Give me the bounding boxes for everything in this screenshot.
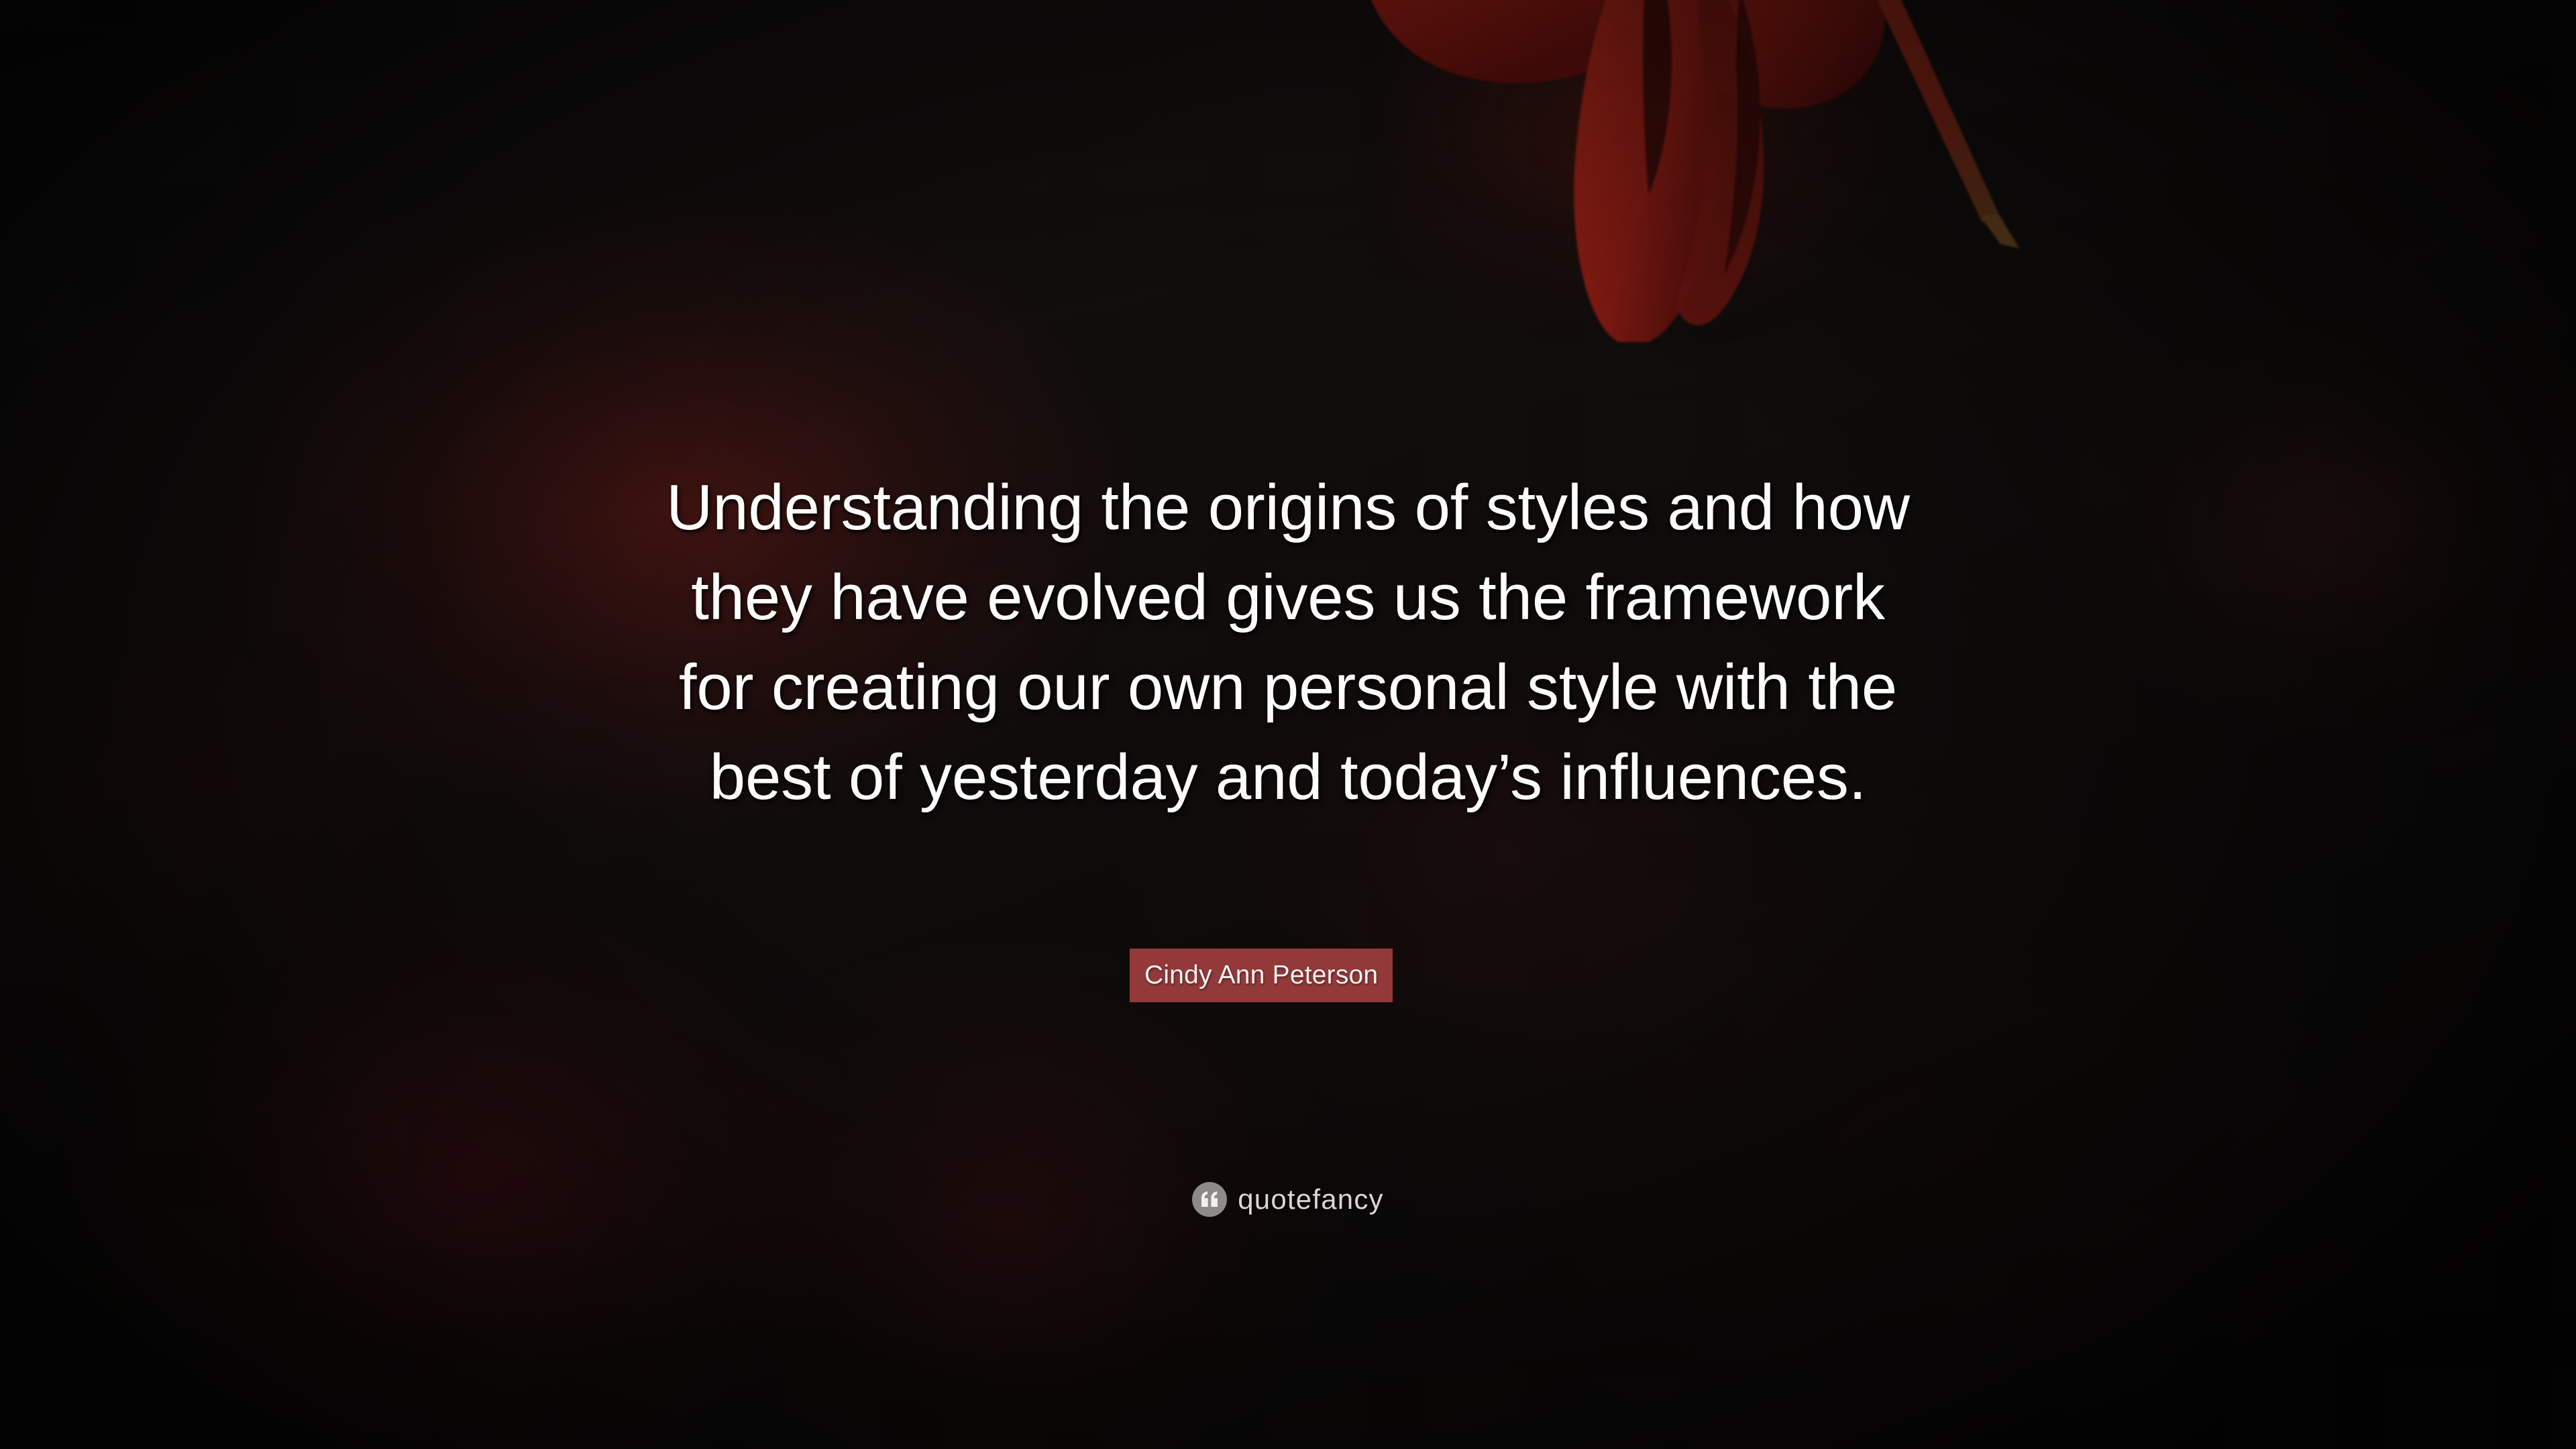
quotefancy-logo[interactable]: quotefancy <box>0 1182 2576 1217</box>
quotation-mark-icon <box>1192 1182 1227 1217</box>
quote-wallpaper: Understanding the origins of styles and … <box>0 0 2576 1449</box>
quote-line-4: best of yesterday and today’s influences… <box>201 733 2375 822</box>
quotefancy-wordmark: quotefancy <box>1238 1183 1384 1216</box>
quote-line-2: they have evolved gives us the framework <box>201 553 2375 643</box>
quote-text: Understanding the origins of styles and … <box>0 463 2576 822</box>
quote-line-1: Understanding the origins of styles and … <box>201 463 2375 553</box>
author-name: Cindy Ann Peterson <box>1144 961 1378 990</box>
author-badge: Cindy Ann Peterson <box>1130 949 1393 1002</box>
quote-line-3: for creating our own personal style with… <box>201 643 2375 733</box>
